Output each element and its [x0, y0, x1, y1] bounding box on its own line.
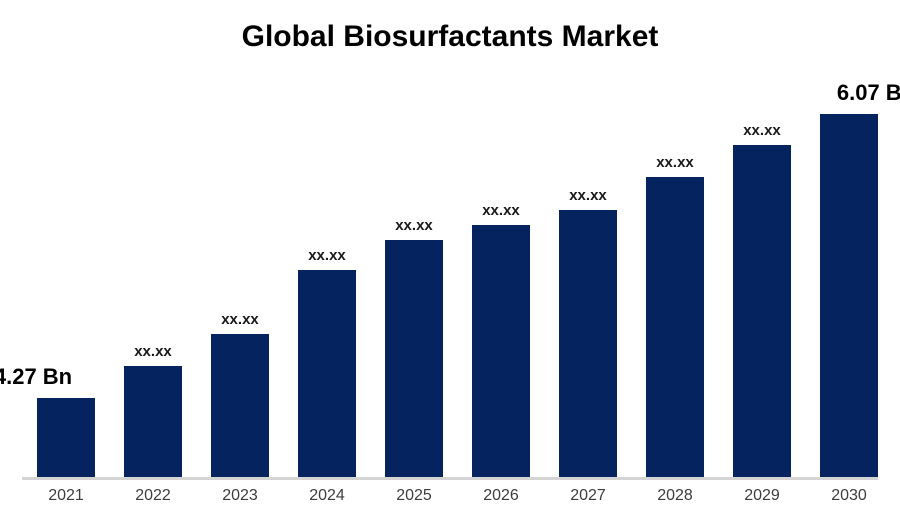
bar[interactable] [646, 177, 704, 477]
bar-value-label: xx.xx [109, 343, 197, 360]
bar-value-label: xx.xx [457, 202, 545, 219]
bar-value-label: xx.xx [196, 311, 284, 328]
bar-group: xx.xx [631, 0, 719, 477]
bar-value-label: 6.07 Bn [821, 80, 900, 106]
bar[interactable] [37, 398, 95, 477]
bar[interactable] [211, 334, 269, 477]
bar-value-label: xx.xx [544, 187, 632, 204]
bar-group: xx.xx [718, 0, 806, 477]
x-axis-tick-label: 2027 [544, 487, 632, 505]
bar[interactable] [733, 145, 791, 477]
bar[interactable] [472, 225, 530, 477]
bar-group: xx.xx [457, 0, 545, 477]
bar-group: 6.07 Bn [805, 0, 893, 477]
x-axis-tick-label: 2030 [805, 487, 893, 505]
bar-value-label: 4.27 Bn [0, 364, 88, 390]
x-axis-tick-label: 2028 [631, 487, 719, 505]
bar-group: xx.xx [196, 0, 284, 477]
bar[interactable] [385, 240, 443, 477]
bar-group: xx.xx [370, 0, 458, 477]
bar[interactable] [298, 270, 356, 477]
bar-group: xx.xx [109, 0, 197, 477]
x-axis-tick-label: 2022 [109, 487, 197, 505]
plot-area: 4.27 Bnxx.xxxx.xxxx.xxxx.xxxx.xxxx.xxxx.… [0, 0, 900, 525]
x-axis-tick-label: 2026 [457, 487, 545, 505]
chart-container: Global Biosurfactants Market 4.27 Bnxx.x… [0, 0, 900, 525]
bar[interactable] [559, 210, 617, 477]
bar-value-label: xx.xx [283, 247, 371, 264]
bar-group: 4.27 Bn [22, 0, 110, 477]
bar[interactable] [124, 366, 182, 477]
bar-value-label: xx.xx [370, 217, 458, 234]
bar-value-label: xx.xx [718, 122, 806, 139]
x-axis-tick-label: 2029 [718, 487, 806, 505]
x-axis-tick-label: 2021 [22, 487, 110, 505]
x-axis-tick-label: 2024 [283, 487, 371, 505]
x-axis-tick-label: 2025 [370, 487, 458, 505]
bar-group: xx.xx [283, 0, 371, 477]
x-axis-line [22, 477, 878, 480]
bar-value-label: xx.xx [631, 154, 719, 171]
bar-group: xx.xx [544, 0, 632, 477]
bar[interactable] [820, 114, 878, 477]
x-axis-tick-label: 2023 [196, 487, 284, 505]
